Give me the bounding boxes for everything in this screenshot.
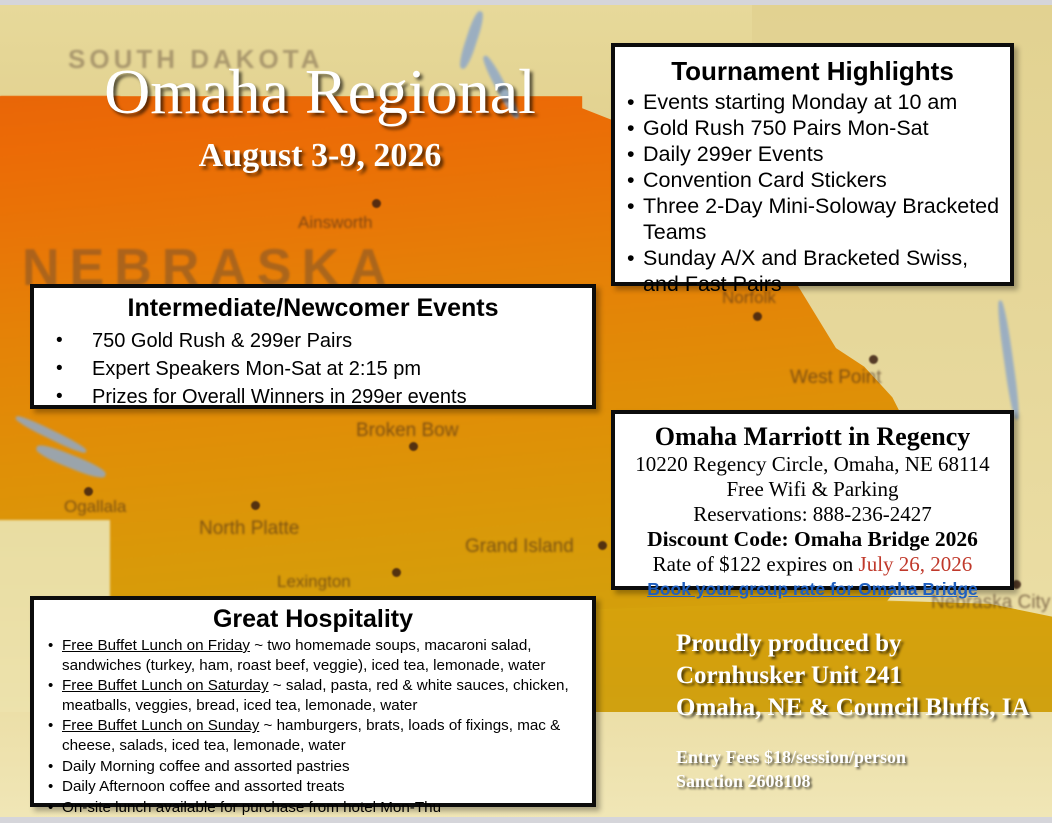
list-item: Sunday A/X and Bracketed Swiss, and Fast…	[625, 245, 1000, 297]
map-city-west-point: West Point	[790, 367, 882, 389]
list-item: 750 Gold Rush & 299er Pairs	[44, 327, 582, 355]
map-city-dot-north-platte	[251, 501, 260, 510]
hotel-rate-expiry: July 26, 2026	[859, 552, 973, 576]
map-city-dot-grand-island	[598, 541, 607, 550]
intermediate-newcomer-panel: Intermediate/Newcomer Events 750 Gold Ru…	[30, 284, 596, 409]
hotel-rate-line: Rate of $122 expires on July 26, 2026	[623, 552, 1002, 577]
list-item: Three 2-Day Mini-Soloway Bracketed Teams	[625, 193, 1000, 245]
list-item: Daily Afternoon coffee and assorted trea…	[42, 777, 584, 797]
hotel-address: 10220 Regency Circle, Omaha, NE 68114	[623, 452, 1002, 477]
hotel-rate-prefix: Rate of $122 expires on	[653, 552, 859, 576]
hospitality-title: Great Hospitality	[42, 605, 584, 634]
book-group-rate-link[interactable]: Book your group rate for Omaha Bridge	[647, 579, 978, 600]
list-item: Events starting Monday at 10 am	[625, 89, 1000, 115]
hospitality-lead: Free Buffet Lunch on Friday	[62, 637, 250, 654]
entry-fees-line: Entry Fees $18/session/person	[676, 745, 906, 769]
hospitality-detail: Daily Afternoon coffee and assorted trea…	[62, 778, 345, 795]
poster-canvas: SOUTH DAKOTA NEBRASKA Ainsworth Ogallala…	[0, 0, 1052, 823]
fees-block: Entry Fees $18/session/person Sanction 2…	[676, 745, 906, 793]
map-city-north-platte: North Platte	[199, 518, 299, 540]
hospitality-lead: Free Buffet Lunch on Saturday	[62, 677, 269, 694]
list-item: Free Buffet Lunch on Friday ~ two homema…	[42, 636, 584, 675]
producer-line-3: Omaha, NE & Council Bluffs, IA	[676, 692, 1030, 724]
highlights-list: Events starting Monday at 10 am Gold Rus…	[625, 89, 1000, 297]
intermediate-title: Intermediate/Newcomer Events	[44, 294, 582, 323]
hotel-info-panel: Omaha Marriott in Regency 10220 Regency …	[611, 410, 1014, 590]
hotel-name: Omaha Marriott in Regency	[623, 422, 1002, 451]
great-hospitality-panel: Great Hospitality Free Buffet Lunch on F…	[30, 596, 596, 807]
producer-block: Proudly produced by Cornhusker Unit 241 …	[676, 628, 1030, 724]
top-border-strip	[0, 0, 1052, 5]
list-item: Daily 299er Events	[625, 141, 1000, 167]
tournament-highlights-panel: Tournament Highlights Events starting Mo…	[611, 43, 1014, 286]
list-item: Prizes for Overall Winners in 299er even…	[44, 383, 582, 411]
map-city-lexington: Lexington	[277, 572, 351, 592]
map-city-broken-bow: Broken Bow	[356, 420, 458, 442]
producer-line-1: Proudly produced by	[676, 628, 1030, 660]
list-item: Convention Card Stickers	[625, 167, 1000, 193]
hotel-amenities: Free Wifi & Parking	[623, 477, 1002, 502]
map-city-dot-ogallala	[84, 487, 93, 496]
hospitality-detail: On-site lunch available for purchase fro…	[62, 799, 441, 816]
map-city-grand-island: Grand Island	[465, 536, 574, 558]
sanction-number-line: Sanction 2608108	[676, 769, 906, 793]
intermediate-list: 750 Gold Rush & 299er Pairs Expert Speak…	[44, 327, 582, 411]
producer-line-2: Cornhusker Unit 241	[676, 660, 1030, 692]
map-city-dot-lexington	[392, 568, 401, 577]
hotel-discount-code: Discount Code: Omaha Bridge 2026	[623, 527, 1002, 552]
list-item: Daily Morning coffee and assorted pastri…	[42, 757, 584, 777]
map-label-south-dakota: SOUTH DAKOTA	[68, 44, 324, 75]
list-item: Free Buffet Lunch on Sunday ~ hamburgers…	[42, 716, 584, 755]
hospitality-lead: Free Buffet Lunch on Sunday	[62, 717, 259, 734]
map-city-ogallala: Ogallala	[64, 497, 126, 517]
map-city-dot-west-point	[869, 355, 878, 364]
hospitality-list: Free Buffet Lunch on Friday ~ two homema…	[42, 636, 584, 817]
map-city-dot-ainsworth	[372, 199, 381, 208]
map-city-dot-norfolk	[753, 312, 762, 321]
list-item: Expert Speakers Mon-Sat at 2:15 pm	[44, 355, 582, 383]
map-city-dot-broken-bow	[409, 442, 418, 451]
hospitality-detail: Daily Morning coffee and assorted pastri…	[62, 758, 350, 775]
list-item: Gold Rush 750 Pairs Mon-Sat	[625, 115, 1000, 141]
bottom-border-strip	[0, 817, 1052, 823]
map-city-ainsworth: Ainsworth	[298, 213, 373, 233]
highlights-title: Tournament Highlights	[625, 56, 1000, 87]
list-item: On-site lunch available for purchase fro…	[42, 798, 584, 818]
hotel-reservations: Reservations: 888-236-2427	[623, 502, 1002, 527]
list-item: Free Buffet Lunch on Saturday ~ salad, p…	[42, 676, 584, 715]
